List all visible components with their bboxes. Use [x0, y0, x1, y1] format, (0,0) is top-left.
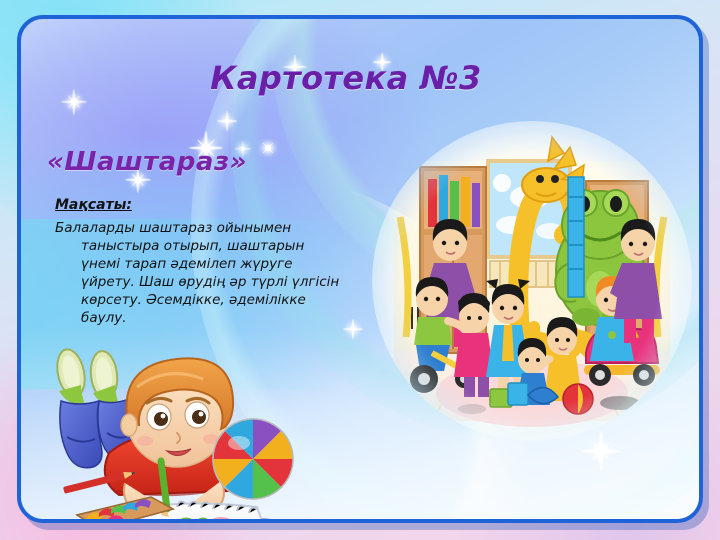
boy-drawing-illustration — [25, 341, 307, 523]
goal-label: Мақсаты: — [55, 197, 132, 213]
goal-line: Балаларды шаштараз ойынымен — [55, 219, 355, 237]
slide-canvas: Картотека №3 «Шаштараз» Мақсаты: Балалар… — [0, 0, 720, 540]
goal-line: баулу. — [55, 309, 355, 327]
kindergarten-scene-illustration — [372, 121, 692, 441]
sparkle-icon — [217, 111, 237, 131]
sparkle-icon — [581, 431, 621, 471]
sparkle-icon — [257, 137, 279, 159]
goal-line: үйрету. Шаш өрудің әр түрлі үлгісін — [55, 273, 355, 291]
goal-line: көрсету. Әсемдікке, әдемілікке — [55, 291, 355, 309]
game-name-heading: «Шаштараз» — [47, 147, 247, 177]
goal-line: үнемі тарап әдемілеп жүруге — [55, 255, 355, 273]
page-title: Картотека №3 — [21, 59, 671, 97]
slide-panel-frame: Картотека №3 «Шаштараз» Мақсаты: Балалар… — [17, 15, 703, 523]
goal-body-text: Балаларды шаштараз ойынымен таныстыра от… — [55, 219, 355, 327]
goal-line: таныстыра отырып, шаштарын — [55, 237, 355, 255]
